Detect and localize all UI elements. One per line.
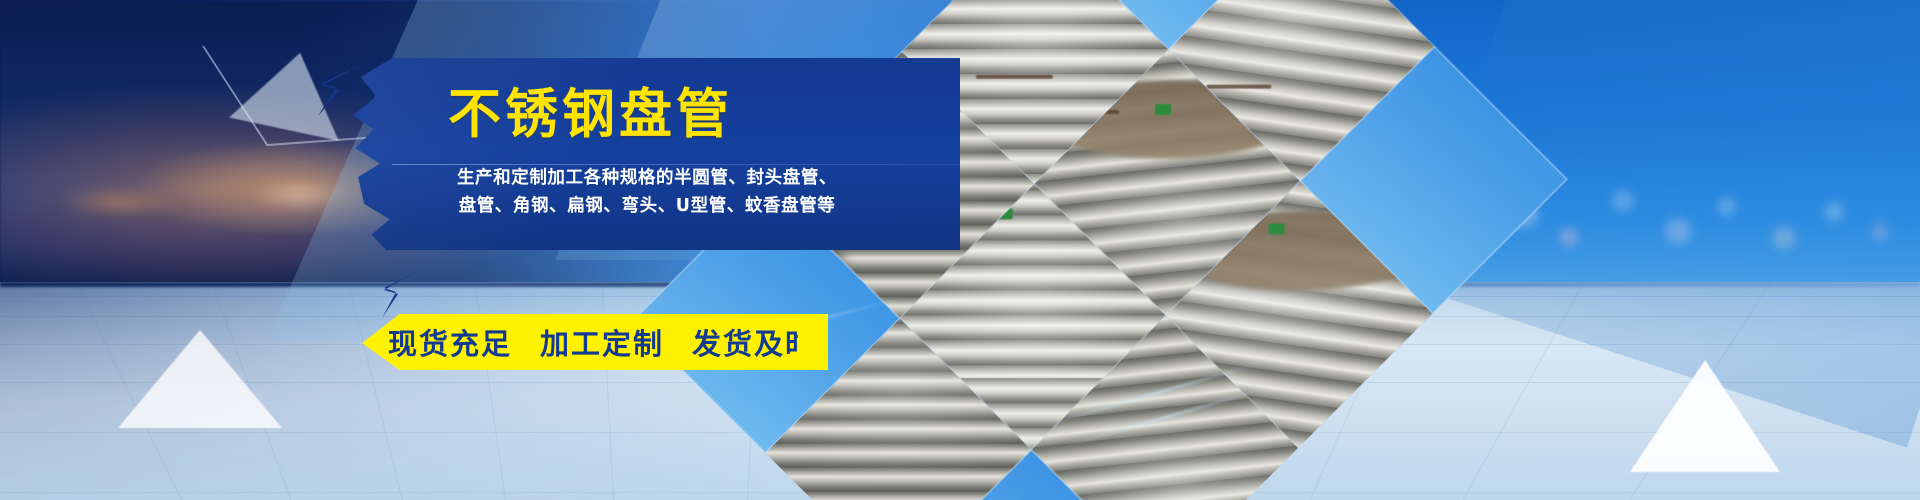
page-title: 不锈钢盘管 (448, 72, 733, 148)
feature-item-custom: 加工定制 (540, 321, 664, 363)
feature-item-shipping: 发货及时 (692, 321, 816, 363)
triangle-accent-left (118, 330, 282, 428)
ribbon-tail (798, 314, 828, 370)
subtitle-line-1: 生产和定制加工各种规格的半圆管、封头盘管、 (352, 164, 942, 192)
subtitle-block: 生产和定制加工各种规格的半圆管、封头盘管、 盘管、角钢、扁钢、弯头、U型管、蚊香… (352, 164, 942, 220)
feature-item-stock: 现货充足 (388, 321, 512, 363)
product-hero-banner: 不锈钢盘管 生产和定制加工各种规格的半圆管、封头盘管、 盘管、角钢、扁钢、弯头、… (0, 0, 1920, 500)
headline-panel: 不锈钢盘管 生产和定制加工各种规格的半圆管、封头盘管、 盘管、角钢、扁钢、弯头、… (352, 58, 960, 250)
feature-ribbon-text: 现货充足 加工定制 发货及时 (408, 314, 796, 370)
feature-ribbon: 现货充足 加工定制 发货及时 (362, 314, 804, 370)
subtitle-line-2: 盘管、角钢、扁钢、弯头、U型管、蚊香盘管等 (352, 192, 942, 220)
triangle-accent-right (1630, 360, 1780, 472)
chevron-arrow-icon (380, 268, 422, 320)
